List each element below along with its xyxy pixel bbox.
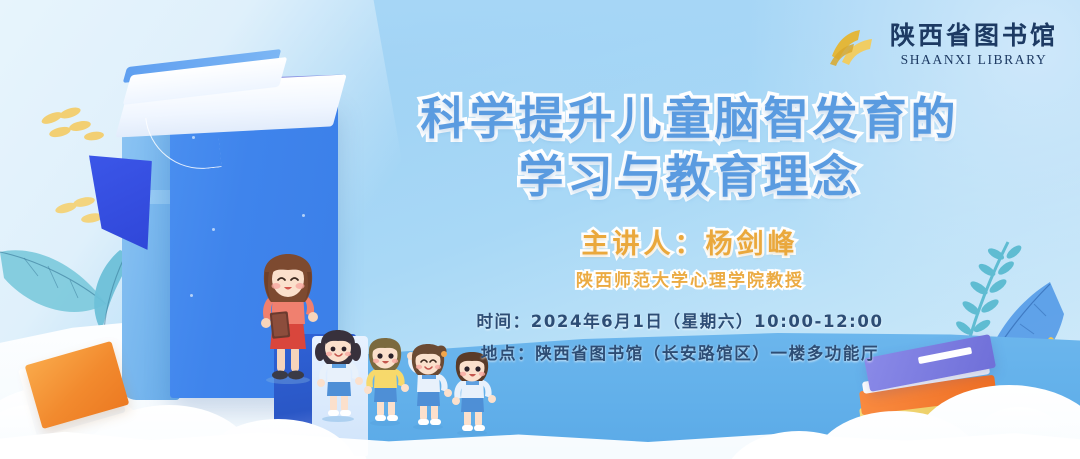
shaanxi-library-wave-mark-icon [828,22,880,68]
speaker-name: 主讲人：杨剑峰 [370,222,1010,261]
event-poster: 陕西省图书馆 SHAANXI LIBRARY 科学提升儿童脑智发育的 学习与教育… [0,0,1080,459]
child-figure-4 [445,352,499,441]
event-time: 时间：2024年6月1日（星期六）10:00-12:00 [330,308,1030,332]
library-logo: 陕西省图书馆 SHAANXI LIBRARY [828,22,1058,68]
speaker-affiliation: 陕西师范大学心理学院教授 [370,266,1010,291]
logo-english-name: SHAANXI LIBRARY [901,53,1048,67]
logo-text-block: 陕西省图书馆 SHAANXI LIBRARY [890,24,1058,67]
title-line-2: 学习与教育理念 [370,148,1010,206]
title-line-1: 科学提升儿童脑智发育的 [370,90,1010,148]
logo-chinese-name: 陕西省图书馆 [890,24,1058,49]
poster-title: 科学提升儿童脑智发育的 学习与教育理念 [370,90,1010,205]
event-place: 地点：陕西省图书馆（长安路馆区）一楼多功能厅 [330,340,1030,364]
